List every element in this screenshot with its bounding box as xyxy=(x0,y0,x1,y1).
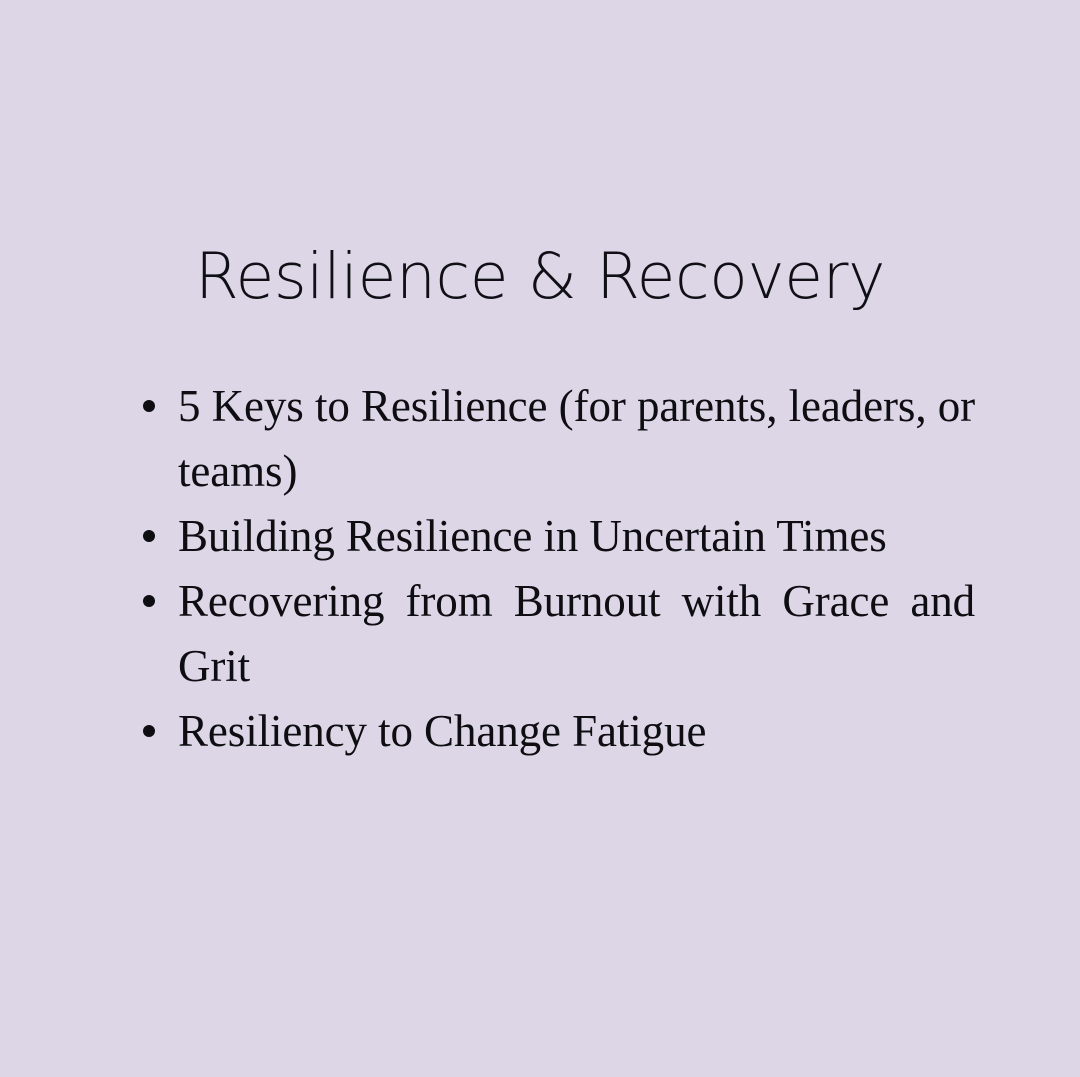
bullet-list: 5 Keys to Resilience (for parents, leade… xyxy=(143,374,975,764)
list-item-label: Building Resilience in Uncertain Times xyxy=(178,504,975,569)
bullet-dot-icon xyxy=(143,725,155,737)
list-item: 5 Keys to Resilience (for parents, leade… xyxy=(143,374,975,504)
list-item: Resiliency to Change Fatigue xyxy=(143,699,975,764)
list-item: Building Resilience in Uncertain Times xyxy=(143,504,975,569)
list-item-label: 5 Keys to Resilience (for parents, leade… xyxy=(178,374,975,504)
list-item-label: Recovering from Burnout with Grace and G… xyxy=(178,569,975,699)
list-item: Recovering from Burnout with Grace and G… xyxy=(143,569,975,699)
bullet-dot-icon xyxy=(143,530,155,542)
bullet-dot-icon xyxy=(143,595,155,607)
list-item-label: Resiliency to Change Fatigue xyxy=(178,699,975,764)
bullet-dot-icon xyxy=(143,400,155,412)
slide-canvas: Resilience & Recovery 5 Keys to Resilien… xyxy=(0,0,1080,1077)
page-title: Resilience & Recovery xyxy=(0,240,1080,314)
